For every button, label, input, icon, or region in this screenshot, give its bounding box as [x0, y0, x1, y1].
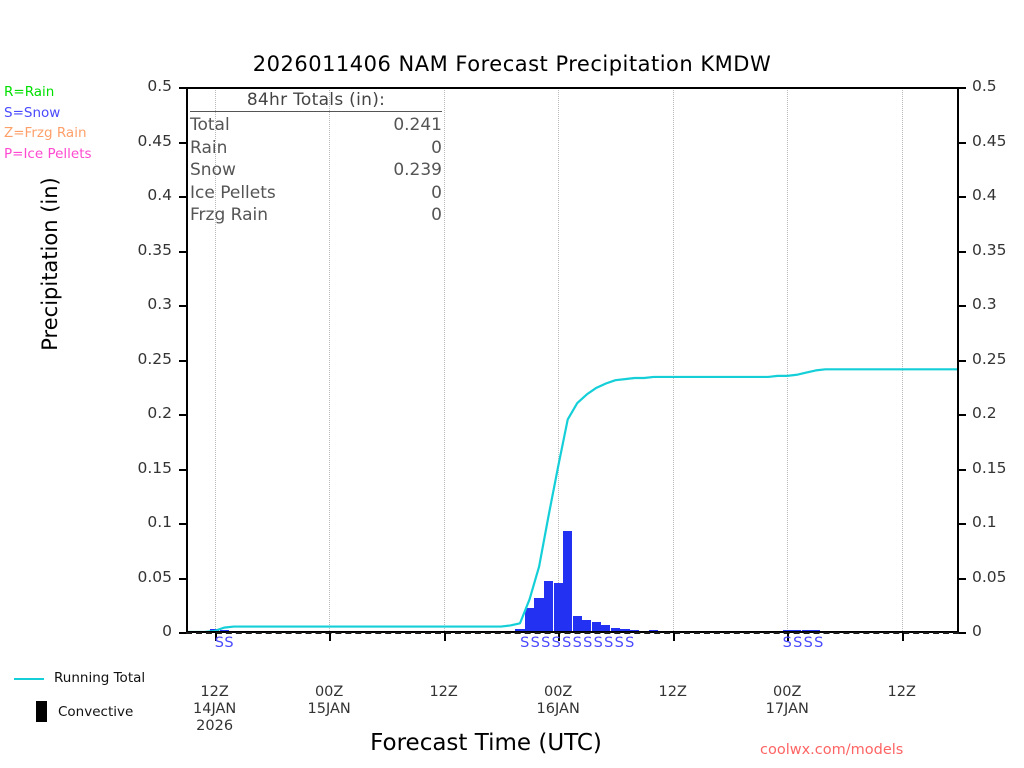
ptype-letter: S [593, 635, 603, 651]
y-axis-tick [959, 87, 966, 89]
ptype-letter: S [604, 635, 614, 651]
ptype-letter: S [782, 635, 792, 651]
y-axis-tick [959, 578, 966, 580]
y-axis-label-right: 0.2 [972, 404, 1024, 422]
y-axis-label-right: 0.1 [972, 513, 1024, 531]
y-axis-tick [179, 578, 186, 580]
y-axis-label-left: 0.4 [0, 186, 172, 204]
y-axis-tick [959, 523, 966, 525]
ptype-letter-row: SSSSSSSSSSSSSSSSS [186, 635, 959, 657]
ptype-letter: S [530, 635, 540, 651]
ptype-letter: S [520, 635, 530, 651]
legend-convective: Convective [14, 700, 184, 724]
ptype-letter: S [551, 635, 561, 651]
y-axis-tick [959, 305, 966, 307]
y-axis-tick [959, 251, 966, 253]
y-axis-tick [179, 196, 186, 198]
x-axis-label-line: 15JAN [269, 701, 389, 718]
totals-row-label: Snow [190, 159, 236, 182]
y-axis-tick [959, 469, 966, 471]
ptype-letter: S [541, 635, 551, 651]
totals-row-value: 0 [431, 137, 442, 160]
x-axis-label: 00Z17JAN [727, 684, 847, 718]
y-axis-label-right: 0.3 [972, 295, 1024, 313]
y-axis-label-left: 0.05 [0, 568, 172, 586]
y-axis-label-left: 0.25 [0, 350, 172, 368]
ptype-letter: S [614, 635, 624, 651]
y-axis-tick [179, 414, 186, 416]
totals-row-label: Ice Pellets [190, 182, 276, 205]
totals-heading: 84hr Totals (in): [190, 90, 442, 111]
ptype-letter: S [793, 635, 803, 651]
y-axis-label-right: 0.45 [972, 132, 1024, 150]
y-axis-label-right: 0.05 [972, 568, 1024, 586]
line-swatch-icon [14, 678, 44, 680]
y-axis-tick [179, 523, 186, 525]
y-axis-label-left: 0.2 [0, 404, 172, 422]
totals-row-label: Frzg Rain [190, 204, 268, 227]
totals-row-value: 0.241 [393, 114, 442, 137]
x-axis-label: 12Z [384, 684, 504, 701]
y-axis-tick [179, 251, 186, 253]
y-axis-label-left: 0.1 [0, 513, 172, 531]
y-axis-label-left: 0.45 [0, 132, 172, 150]
y-axis-tick [959, 360, 966, 362]
totals-rows: Total0.241Rain0Snow0.239Ice Pellets0Frzg… [190, 114, 442, 227]
y-axis-tick [959, 196, 966, 198]
totals-box: 84hr Totals (in): Total0.241Rain0Snow0.2… [190, 90, 442, 227]
ptype-letter: S [625, 635, 635, 651]
y-axis-tick [179, 305, 186, 307]
legend-running-total-label: Running Total [54, 670, 145, 686]
watermark: coolwx.com/models [760, 742, 1020, 758]
ptype-letter: S [224, 635, 234, 651]
y-axis-label-left: 0.5 [0, 77, 172, 95]
x-axis-label-line: 00Z [727, 684, 847, 701]
ptype-letter: S [572, 635, 582, 651]
totals-row-label: Rain [190, 137, 227, 160]
ptype-letter: S [562, 635, 572, 651]
ptype-letter: S [583, 635, 593, 651]
x-axis-label-line: 00Z [269, 684, 389, 701]
y-axis-tick [179, 360, 186, 362]
y-axis-label-left: 0 [0, 622, 172, 640]
y-axis-label-right: 0.25 [972, 350, 1024, 368]
totals-row: Ice Pellets0 [190, 182, 442, 205]
y-axis-label-right: 0.4 [972, 186, 1024, 204]
totals-row-value: 0 [431, 182, 442, 205]
bar-swatch-icon [36, 701, 47, 722]
y-axis-label-right: 0 [972, 622, 1024, 640]
y-axis-label-left: 0.3 [0, 295, 172, 313]
x-axis-label: 12Z [613, 684, 733, 701]
y-axis-tick [179, 142, 186, 144]
x-axis-label: 00Z15JAN [269, 684, 389, 718]
y-axis-tick [179, 469, 186, 471]
x-axis-label: 00Z16JAN [498, 684, 618, 718]
x-axis-label-line: 12Z [384, 684, 504, 701]
y-axis-label-right: 0.35 [972, 241, 1024, 259]
legend-convective-label: Convective [58, 704, 133, 720]
y-axis-tick [959, 414, 966, 416]
x-axis-label-line: 17JAN [727, 701, 847, 718]
totals-row-value: 0.239 [393, 159, 442, 182]
totals-row: Snow0.239 [190, 159, 442, 182]
x-axis-label: 12Z [842, 684, 962, 701]
y-axis-label-left: 0.35 [0, 241, 172, 259]
y-axis-tick [959, 632, 966, 634]
x-axis-label-line: 16JAN [498, 701, 618, 718]
ptype-letter: S [803, 635, 813, 651]
precipitation-forecast-chart: 2026011406 NAM Forecast Precipitation KM… [0, 0, 1024, 768]
x-axis-label-line: 12Z [613, 684, 733, 701]
legend-running-total: Running Total [14, 668, 184, 690]
totals-divider [190, 111, 442, 112]
x-axis-title: Forecast Time (UTC) [186, 730, 786, 756]
totals-row-label: Total [190, 114, 230, 137]
y-axis-tick [179, 632, 186, 634]
x-axis-label-line: 00Z [498, 684, 618, 701]
ptype-letter: S [214, 635, 224, 651]
y-axis-tick [179, 87, 186, 89]
y-axis-label-left: 0.15 [0, 459, 172, 477]
totals-row: Frzg Rain0 [190, 204, 442, 227]
y-axis-label-right: 0.15 [972, 459, 1024, 477]
y-axis-tick [959, 142, 966, 144]
x-axis-label-line: 12Z [842, 684, 962, 701]
totals-row: Total0.241 [190, 114, 442, 137]
y-axis-label-right: 0.5 [972, 77, 1024, 95]
totals-row: Rain0 [190, 137, 442, 160]
ptype-letter: S [814, 635, 824, 651]
totals-row-value: 0 [431, 204, 442, 227]
